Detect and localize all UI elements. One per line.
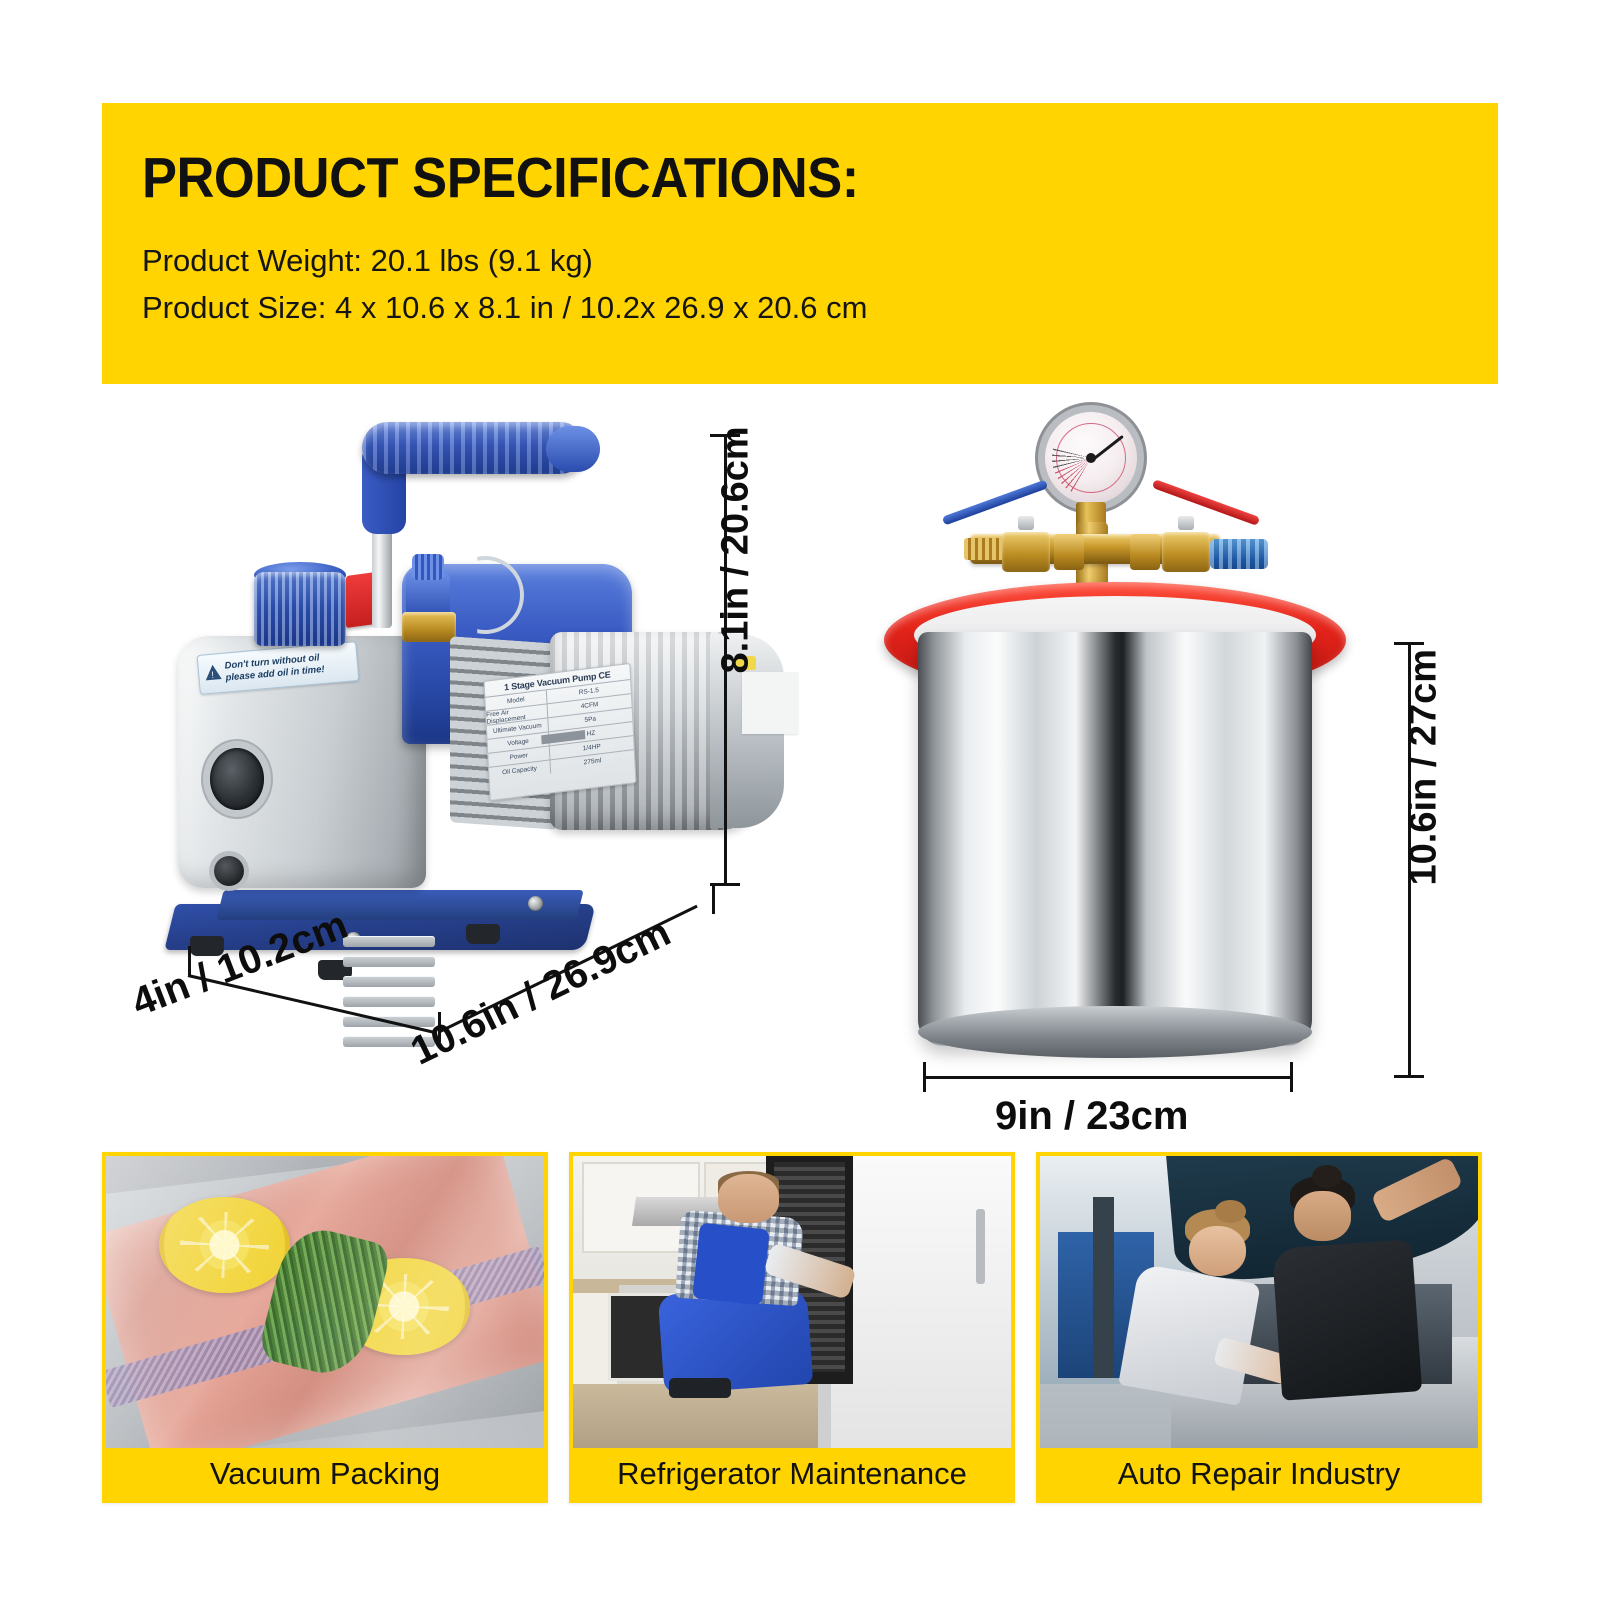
technician-head: [718, 1174, 779, 1224]
oil-fill-cap: [254, 572, 346, 646]
product-illustration-stage: Don't turn without oil please add oil in…: [0, 384, 1600, 1154]
mechanic-one-shirt: [1118, 1263, 1260, 1405]
technician-shoe: [669, 1378, 730, 1398]
gauge-hub: [1086, 453, 1096, 463]
chamber-width-cap-right: [1290, 1062, 1293, 1092]
chamber-bottom-rim: [918, 1006, 1312, 1058]
page-title: PRODUCT SPECIFICATIONS:: [142, 145, 859, 211]
product-spec-infographic: PRODUCT SPECIFICATIONS: Product Weight: …: [0, 0, 1600, 1600]
intake-knob: [412, 554, 444, 580]
vacuum-chamber-illustration: [880, 394, 1350, 1094]
refrigerator-handle: [976, 1209, 985, 1285]
panel-caption-refrigerator-maintenance: Refrigerator Maintenance: [573, 1448, 1011, 1499]
chamber-stainless-body: [918, 632, 1312, 1046]
mechanic-one-head: [1189, 1226, 1246, 1276]
left-ball-valve: [1002, 532, 1050, 572]
right-coupler: [1130, 534, 1160, 570]
brass-intake-fitting: [402, 612, 456, 642]
red-valve-lever: [1152, 479, 1260, 526]
blue-port-cap: [1210, 539, 1268, 569]
mechanic-one-bun: [1215, 1200, 1246, 1223]
vacuum-packing-photo: [106, 1156, 544, 1448]
left-valve-nut: [1018, 516, 1034, 530]
left-coupler: [1054, 534, 1084, 570]
warning-triangle-icon: [204, 664, 221, 680]
use-case-panel-refrigerator-maintenance[interactable]: Refrigerator Maintenance: [569, 1152, 1015, 1503]
vacuum-pump-illustration: Don't turn without oil please add oil in…: [150, 404, 710, 1004]
spec-plate-rows: Model RS-1.5 Free Air Displacement 4CFM …: [485, 679, 634, 781]
chamber-width-dimension-line: [923, 1076, 1293, 1079]
pump-height-label: 8.1in / 20.6cm: [715, 426, 758, 673]
spec-size: Product Size: 4 x 10.6 x 8.1 in / 10.2x …: [142, 290, 867, 326]
specifications-banner: PRODUCT SPECIFICATIONS: Product Weight: …: [102, 103, 1498, 384]
vehicle-lift-post: [1093, 1197, 1115, 1378]
warning-text: Don't turn without oil please add oil in…: [224, 652, 325, 684]
mechanic-two-shirt: [1271, 1239, 1421, 1400]
handle-tip: [546, 426, 600, 472]
plastic-gloss-overlay: [106, 1156, 544, 1448]
use-case-panel-vacuum-packing[interactable]: Vacuum Packing: [102, 1152, 548, 1503]
chamber-width-label: 9in / 23cm: [995, 1094, 1188, 1139]
oil-sight-glass: [210, 748, 264, 810]
spec-weight: Product Weight: 20.1 lbs (9.1 kg): [142, 243, 593, 279]
right-valve-nut: [1178, 516, 1194, 530]
base-screw: [528, 896, 543, 911]
auto-repair-photo: [1040, 1156, 1478, 1448]
pump-foot: [466, 924, 500, 944]
pump-spec-plate: 1 Stage Vacuum Pump CE Model RS-1.5 Free…: [483, 663, 636, 801]
motor-label-tag: [742, 672, 798, 734]
use-case-panels: Vacuum Packing: [0, 1152, 1600, 1552]
panel-caption-vacuum-packing: Vacuum Packing: [106, 1448, 544, 1499]
chamber-height-label: 10.6in / 27cm: [1403, 649, 1446, 886]
mechanic-two-head: [1294, 1191, 1351, 1241]
vacuum-gauge-icon: [1045, 412, 1137, 504]
pump-length-cap: [712, 884, 715, 914]
chamber-height-cap-bottom: [1394, 1075, 1424, 1078]
use-case-panel-auto-repair[interactable]: Auto Repair Industry: [1036, 1152, 1482, 1503]
refrigerator-maintenance-photo: [573, 1156, 1011, 1448]
mechanic-two-bun: [1312, 1165, 1343, 1188]
technician-overalls: [692, 1223, 770, 1306]
right-ball-valve: [1162, 532, 1210, 572]
hose-barb-fitting: [964, 538, 1004, 560]
panel-caption-auto-repair: Auto Repair Industry: [1040, 1448, 1478, 1499]
oil-drain-plug: [214, 856, 244, 886]
